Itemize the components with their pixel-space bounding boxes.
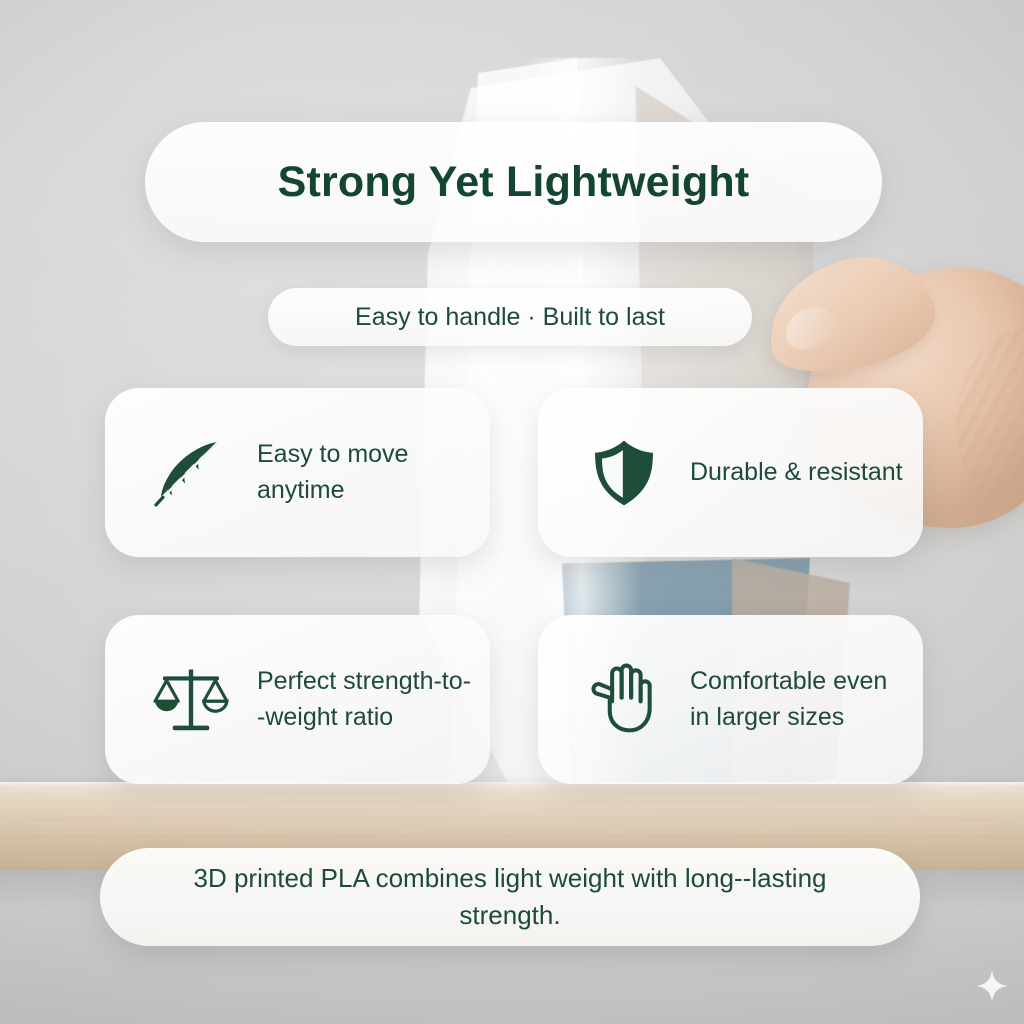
feature-label: Comfortable even in larger sizes [690, 664, 905, 735]
subtitle-pill: Easy to handle · Built to last [268, 288, 752, 346]
feather-icon [147, 427, 235, 519]
feature-label: Durable & resistant [690, 455, 903, 491]
feature-card-comfortable[interactable]: Comfortable even in larger sizes [538, 615, 923, 784]
open-hand-icon [580, 654, 668, 746]
feature-label: Perfect strength-to--weight ratio [257, 664, 472, 735]
shield-icon [580, 427, 668, 519]
infographic-stage: Strong Yet Lightweight Easy to handle · … [0, 0, 1024, 1024]
feature-card-strength-to-weight[interactable]: Perfect strength-to--weight ratio [105, 615, 490, 784]
balance-scale-icon [147, 654, 235, 746]
footer-pill: 3D printed PLA combines light weight wit… [100, 848, 920, 946]
feature-card-durable[interactable]: Durable & resistant [538, 388, 923, 557]
page-subtitle: Easy to handle · Built to last [355, 303, 665, 332]
page-title: Strong Yet Lightweight [278, 158, 750, 207]
footer-text: 3D printed PLA combines light weight wit… [100, 860, 920, 934]
title-pill: Strong Yet Lightweight [145, 122, 882, 242]
sparkle-icon [974, 968, 1010, 1004]
feature-label: Easy to move anytime [257, 437, 472, 508]
feature-card-easy-to-move[interactable]: Easy to move anytime [105, 388, 490, 557]
